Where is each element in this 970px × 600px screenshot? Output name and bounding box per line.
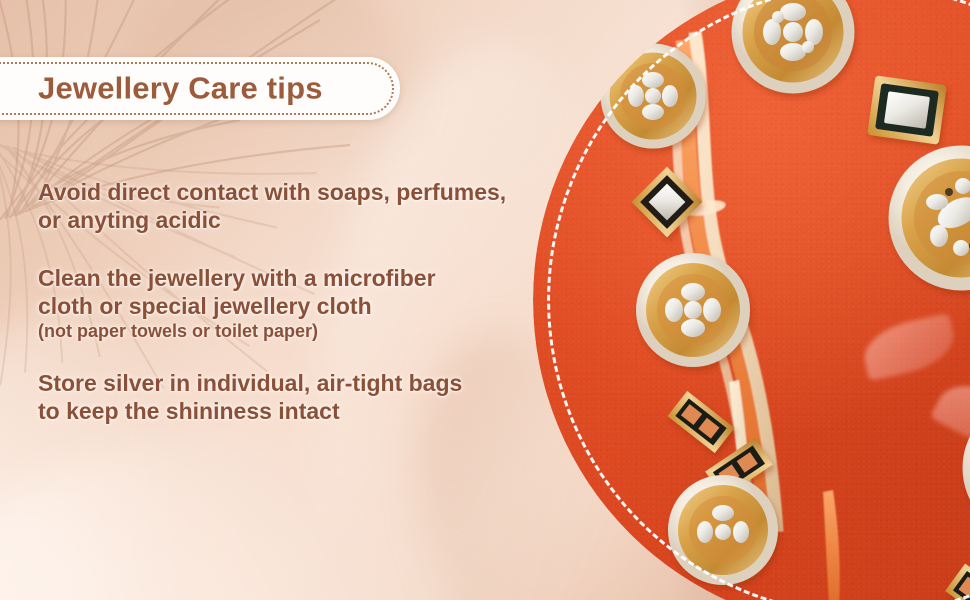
jewellery-care-tips-banner: Jewellery Care tips Avoid direct contact… <box>0 0 970 600</box>
page-title: Jewellery Care tips <box>38 70 323 106</box>
tip-avoid-contact: Avoid direct contact with soaps, perfume… <box>38 178 558 234</box>
care-tips-list: Avoid direct contact with soaps, perfume… <box>38 178 558 425</box>
tip-line: Store silver in individual, air-tight ba… <box>38 369 558 397</box>
title-banner-pill: Jewellery Care tips <box>0 57 400 120</box>
tip-note: (not paper towels or toilet paper) <box>38 320 558 343</box>
tip-line: Avoid direct contact with soaps, perfume… <box>38 178 558 206</box>
product-photo-circle <box>533 0 970 600</box>
tip-clean-cloth: Clean the jewellery with a microfiber cl… <box>38 264 558 343</box>
tip-line: or anyting acidic <box>38 206 558 234</box>
tip-store-airtight: Store silver in individual, air-tight ba… <box>38 369 558 425</box>
tip-line: to keep the shininess intact <box>38 397 558 425</box>
tip-line: cloth or special jewellery cloth <box>38 292 558 320</box>
tip-line: Clean the jewellery with a microfiber <box>38 264 558 292</box>
